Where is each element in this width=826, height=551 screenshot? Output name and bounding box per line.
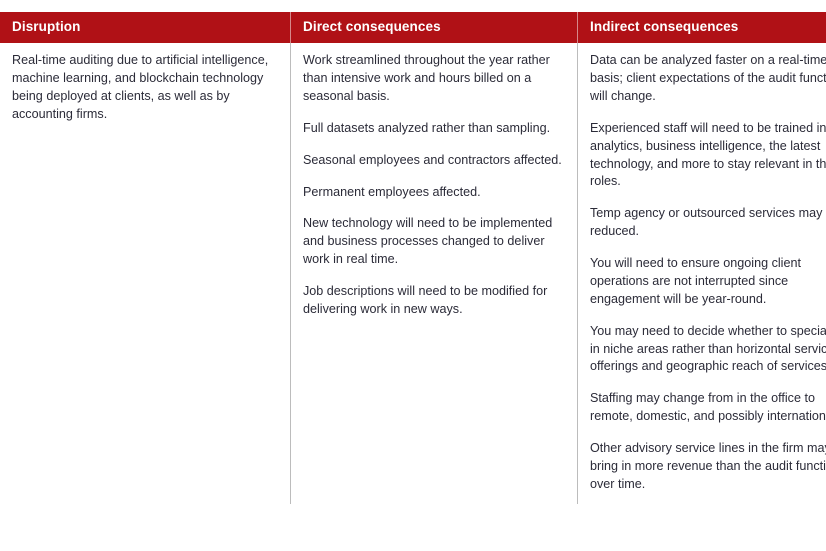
- list-item: Temp agency or outsourced services may b…: [590, 205, 826, 241]
- list-item: Real-time auditing due to artificial int…: [12, 52, 276, 124]
- cell-disruption: Real-time auditing due to artificial int…: [0, 43, 291, 504]
- list-item: Experienced staff will need to be traine…: [590, 120, 826, 192]
- table-row: Real-time auditing due to artificial int…: [0, 43, 826, 504]
- column-header-direct-consequences: Direct consequences: [291, 12, 578, 43]
- list-item: Job descriptions will need to be modifie…: [303, 283, 563, 319]
- disruption-consequences-table: Disruption Direct consequences Indirect …: [0, 12, 826, 504]
- list-item: Work streamlined throughout the year rat…: [303, 52, 563, 106]
- list-item: Staffing may change from in the office t…: [590, 390, 826, 426]
- cell-direct-consequences: Work streamlined throughout the year rat…: [291, 43, 578, 504]
- list-item: New technology will need to be implement…: [303, 215, 563, 269]
- table-body: Real-time auditing due to artificial int…: [0, 43, 826, 504]
- list-item: You may need to decide whether to specia…: [590, 323, 826, 377]
- list-item: Other advisory service lines in the firm…: [590, 440, 826, 494]
- table-header-row: Disruption Direct consequences Indirect …: [0, 12, 826, 43]
- cell-indirect-consequences: Data can be analyzed faster on a real-ti…: [578, 43, 826, 504]
- column-header-disruption: Disruption: [0, 12, 291, 43]
- list-item: Full datasets analyzed rather than sampl…: [303, 120, 563, 138]
- list-item: Permanent employees affected.: [303, 184, 563, 202]
- column-header-indirect-consequences: Indirect consequences: [578, 12, 826, 43]
- table-header: Disruption Direct consequences Indirect …: [0, 12, 826, 43]
- disruption-table-container: Disruption Direct consequences Indirect …: [0, 0, 826, 551]
- disruption-item-list: Real-time auditing due to artificial int…: [12, 52, 276, 124]
- list-item: You will need to ensure ongoing client o…: [590, 255, 826, 309]
- direct-consequences-item-list: Work streamlined throughout the year rat…: [303, 52, 563, 319]
- list-item: Seasonal employees and contractors affec…: [303, 152, 563, 170]
- list-item: Data can be analyzed faster on a real-ti…: [590, 52, 826, 106]
- indirect-consequences-item-list: Data can be analyzed faster on a real-ti…: [590, 52, 826, 494]
